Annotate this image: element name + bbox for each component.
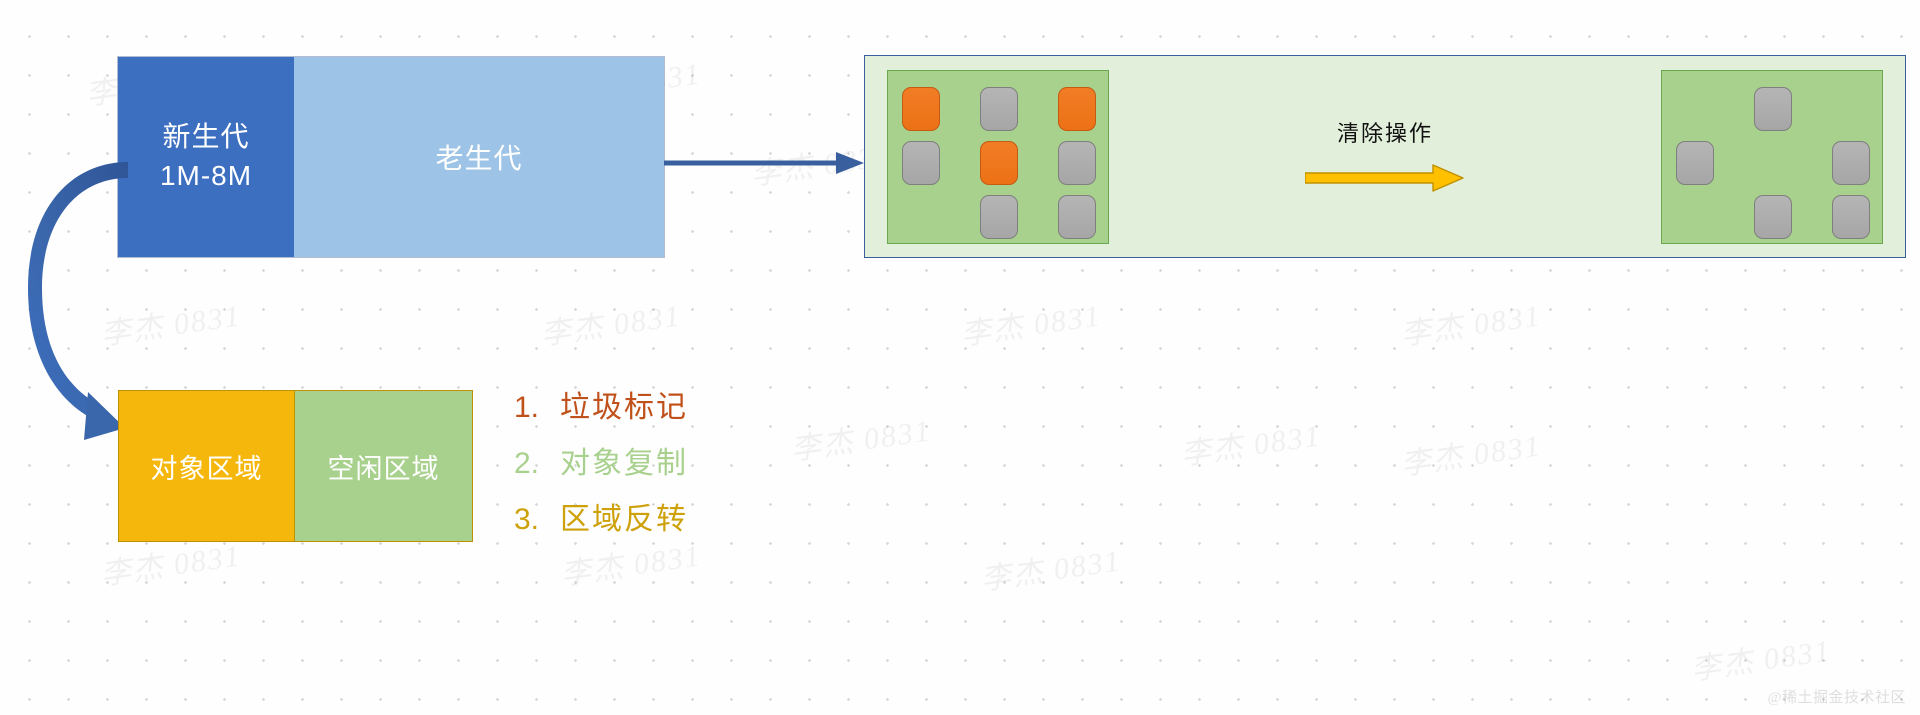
watermark: 李杰 0831 (958, 290, 1104, 353)
old-generation-label: 老生代 (435, 137, 522, 177)
object-live (902, 141, 940, 185)
watermark: 李杰 0831 (1688, 625, 1834, 688)
object-live (1832, 195, 1870, 239)
heap-before-sweep (887, 70, 1109, 244)
sweep-operation-label: 清除操作 (1337, 116, 1433, 148)
watermark: 李杰 0831 (1398, 290, 1544, 353)
free-region-block: 空闲区域 (295, 391, 472, 541)
object-live (980, 195, 1018, 239)
step-number: 1. (514, 391, 560, 425)
flow-arrow-icon (664, 146, 869, 180)
step-number: 2. (514, 447, 560, 481)
object-live (1058, 141, 1096, 185)
step-label: 垃圾标记 (560, 382, 688, 426)
object-garbage (1058, 87, 1096, 131)
object-garbage (980, 141, 1018, 185)
steps-list: 1. 垃圾标记 2. 对象复制 3. 区域反转 (514, 382, 854, 550)
young-generation-block: 新生代 1M-8M (118, 57, 294, 257)
community-watermark: @稀土掘金技术社区 (1768, 686, 1906, 707)
young-generation-label: 新生代 (162, 118, 249, 157)
object-live (1754, 195, 1792, 239)
mark-sweep-panel: 清除操作 (864, 55, 1906, 258)
list-item: 3. 区域反转 (514, 494, 854, 550)
copy-region-bar: 对象区域 空闲区域 (118, 390, 473, 542)
watermark: 李杰 0831 (1178, 410, 1324, 473)
object-region-block: 对象区域 (119, 391, 295, 541)
list-item: 2. 对象复制 (514, 438, 854, 494)
object-live (980, 87, 1018, 131)
object-garbage (902, 87, 940, 131)
list-item: 1. 垃圾标记 (514, 382, 854, 438)
step-number: 3. (514, 503, 560, 537)
old-generation-block: 老生代 (294, 57, 664, 257)
object-live (1058, 195, 1096, 239)
step-label: 对象复制 (560, 438, 688, 482)
watermark: 李杰 0831 (1398, 420, 1544, 483)
sweep-arrow-icon (1305, 164, 1465, 192)
watermark: 李杰 0831 (978, 535, 1124, 598)
watermark: 李杰 0831 (538, 290, 684, 353)
object-live (1754, 87, 1792, 131)
heap-after-sweep (1661, 70, 1883, 244)
free-region-label: 空闲区域 (328, 447, 440, 486)
object-region-label: 对象区域 (151, 447, 263, 486)
diagram-canvas: 李杰 0831 李杰 0831 李杰 0831 李杰 0831 李杰 0831 … (0, 0, 1920, 715)
object-live (1832, 141, 1870, 185)
step-label: 区域反转 (560, 494, 688, 538)
generation-bar: 新生代 1M-8M 老生代 (118, 57, 664, 257)
object-live (1676, 141, 1714, 185)
young-generation-size: 1M-8M (160, 157, 252, 196)
